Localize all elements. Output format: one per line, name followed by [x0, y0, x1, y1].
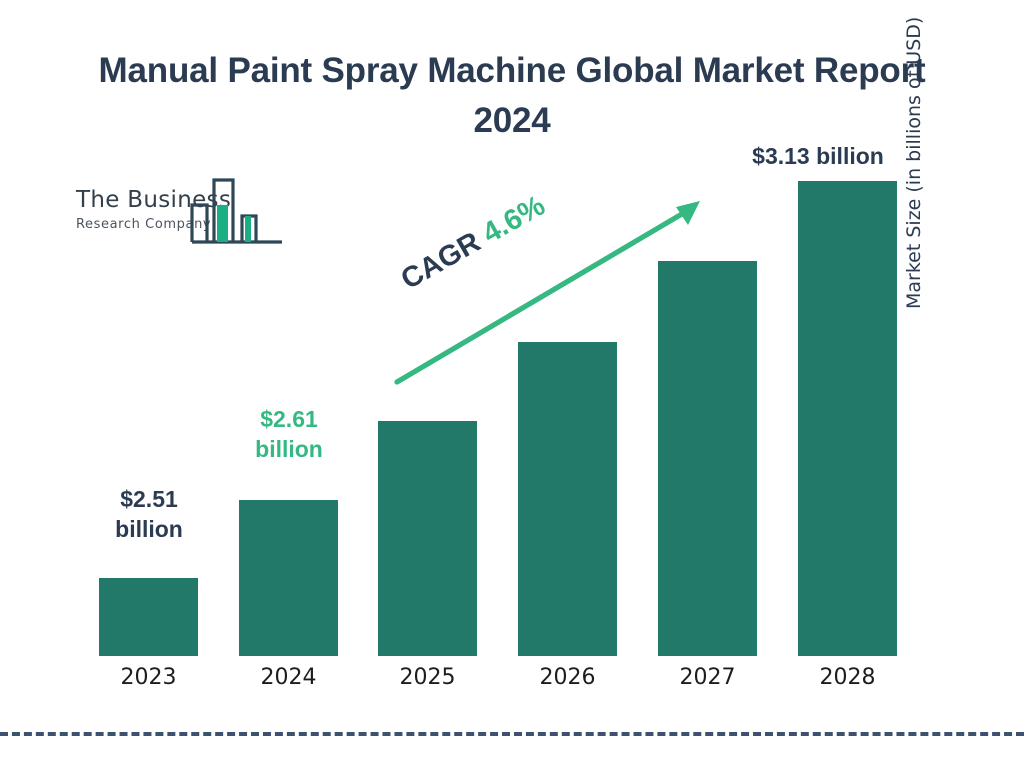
bar-2027: [658, 261, 757, 656]
chart-canvas: Manual Paint Spray Machine Global Market…: [0, 0, 1024, 768]
bar-2028: [798, 181, 897, 656]
bar-2023: [99, 578, 198, 656]
x-tick-2026: 2026: [518, 665, 617, 690]
x-tick-2024: 2024: [239, 665, 338, 690]
bar-2024: [239, 500, 338, 656]
x-tick-2023: 2023: [99, 665, 198, 690]
value-label-2023: $2.51 billion: [82, 484, 216, 545]
y-axis-title: Market Size (in billions of USD): [903, 0, 937, 309]
value-label-2028: $3.13 billion: [723, 141, 913, 171]
bar-2025: [378, 421, 477, 656]
x-tick-2027: 2027: [658, 665, 757, 690]
footer-divider: [0, 732, 1024, 736]
cagr-prefix: CAGR: [396, 222, 493, 296]
company-logo: The Business Research Company: [72, 176, 284, 254]
value-label-2024: $2.61 billion: [222, 404, 356, 465]
x-tick-2025: 2025: [378, 665, 477, 690]
bar-chart-outline-logo-icon: [190, 176, 284, 253]
cagr-value: 4.6%: [477, 190, 550, 250]
bar-2026: [518, 342, 617, 656]
cagr-annotation: CAGR 4.6%: [396, 190, 551, 297]
x-tick-2028: 2028: [798, 665, 897, 690]
page-title: Manual Paint Spray Machine Global Market…: [92, 46, 932, 145]
